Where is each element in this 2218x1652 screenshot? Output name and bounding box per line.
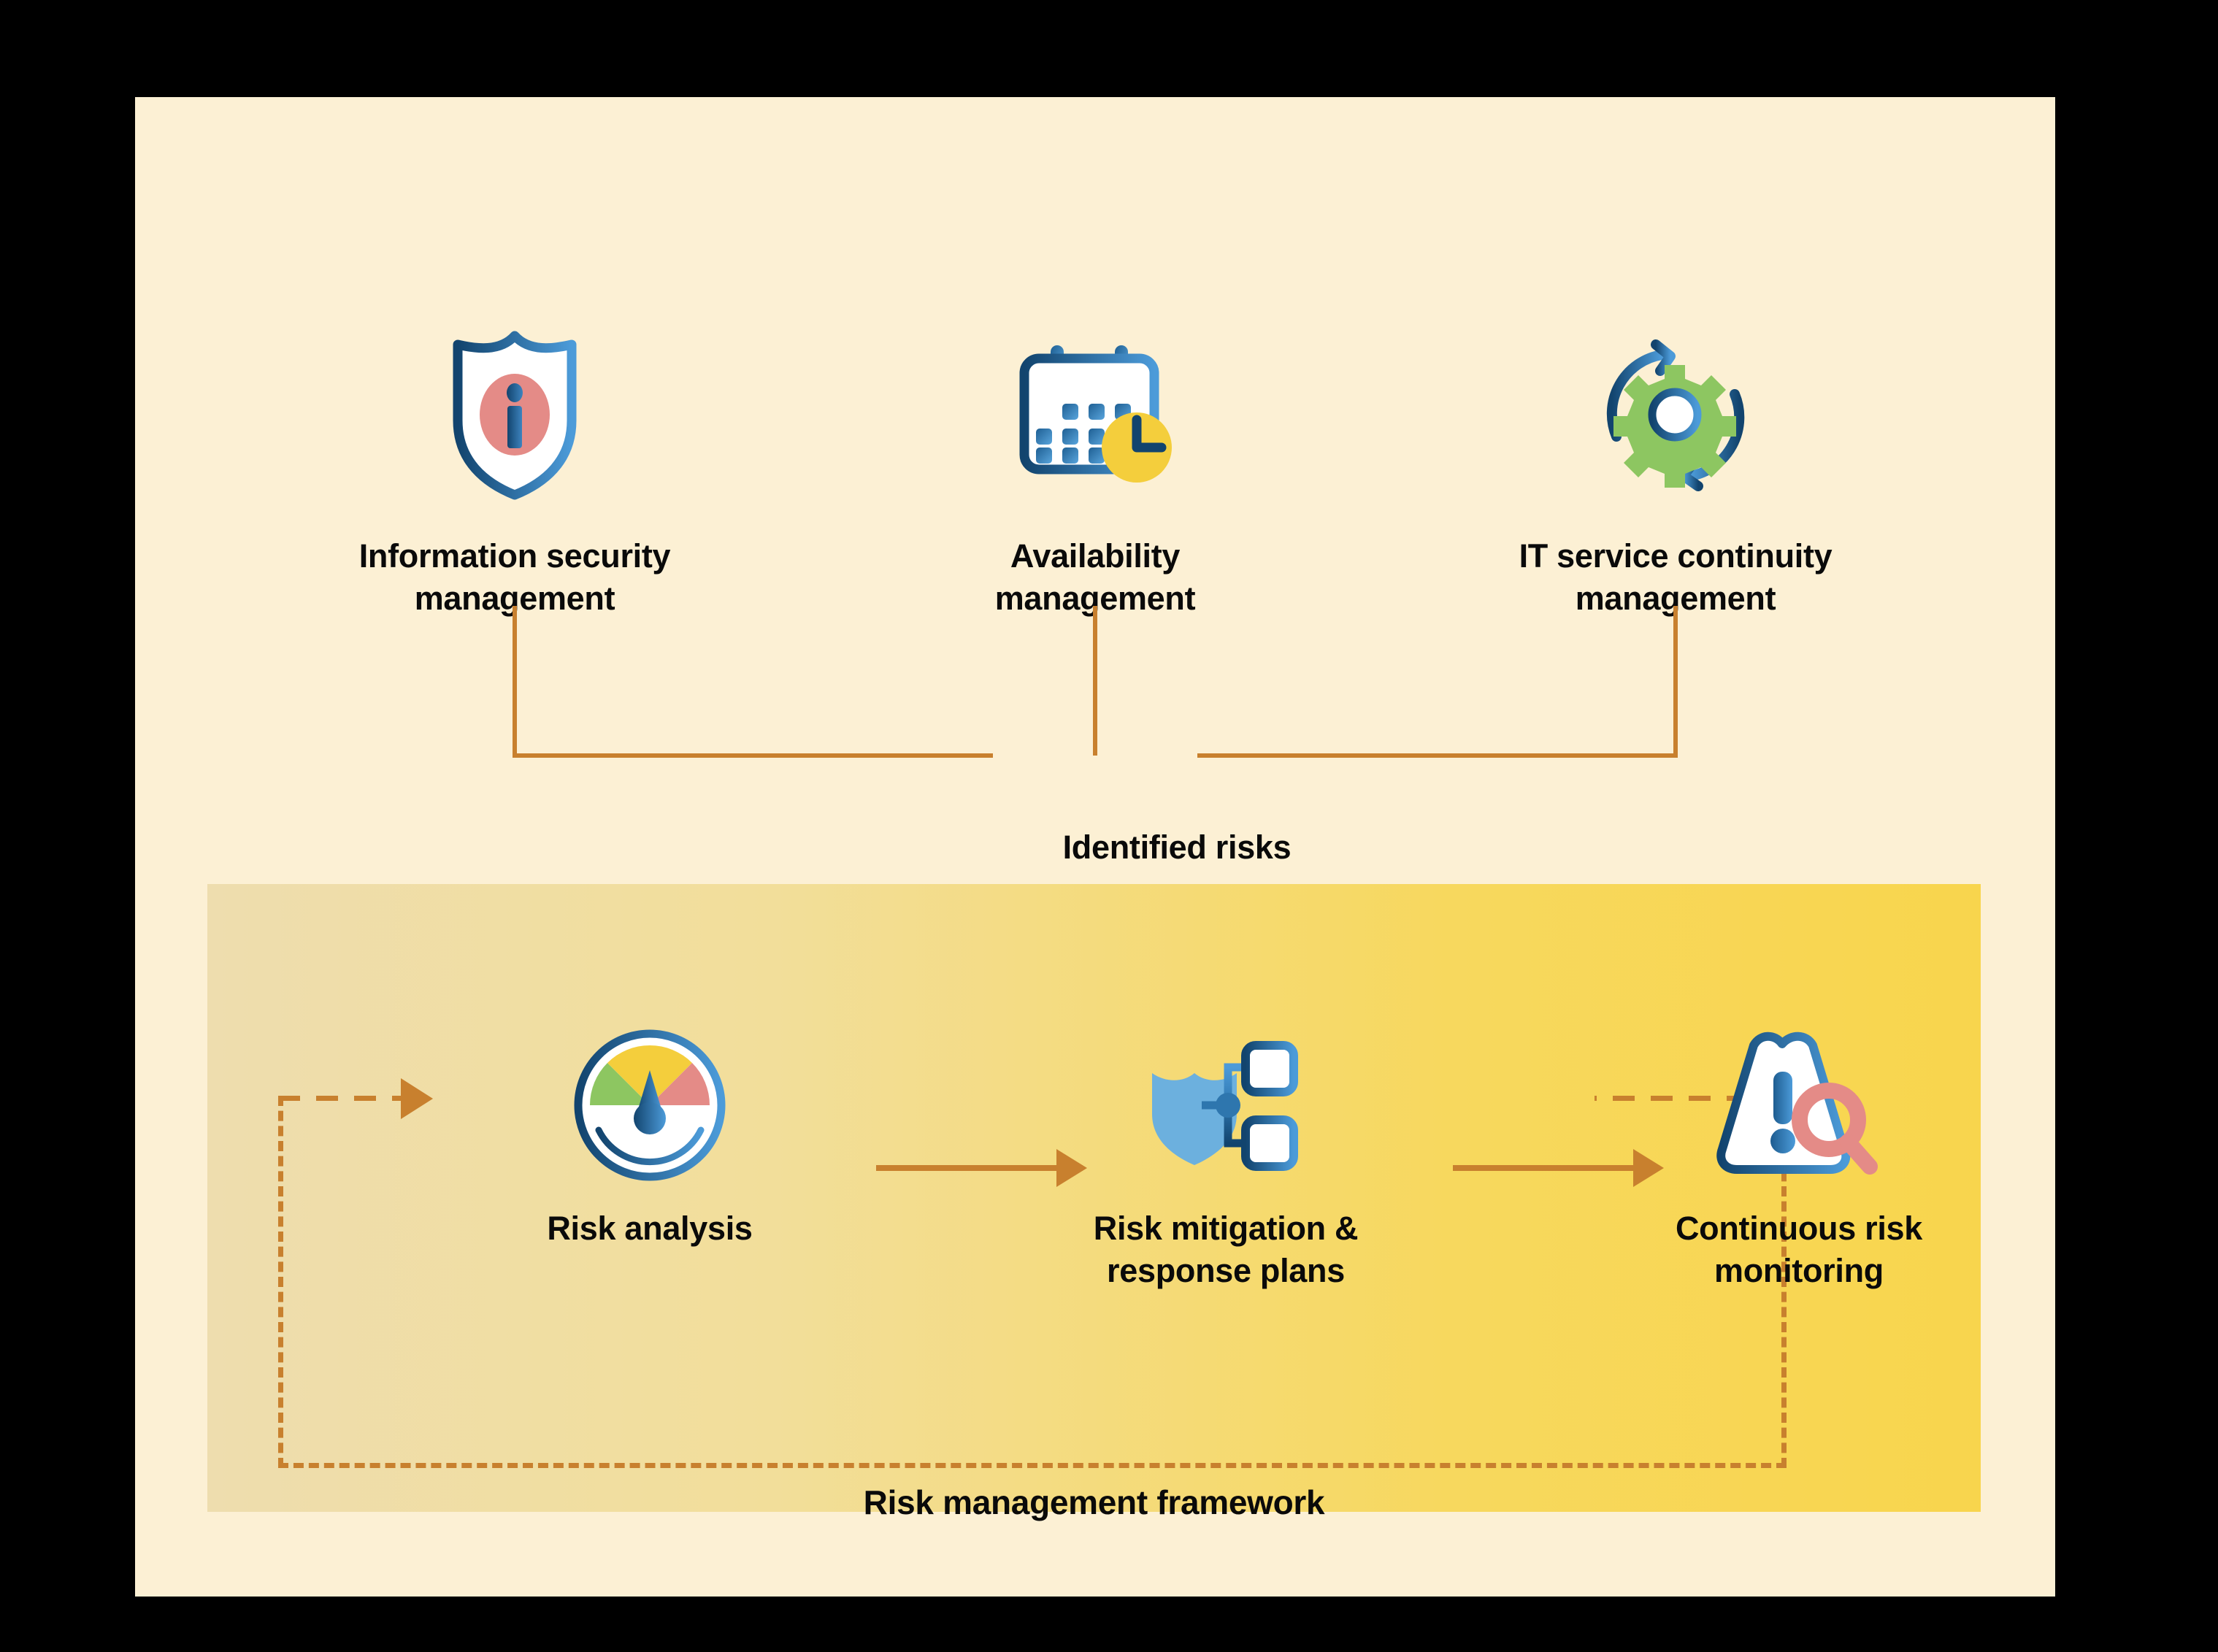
step-risk-analysis: Risk analysis: [423, 1015, 876, 1250]
step-label-line1: Risk mitigation &: [999, 1207, 1452, 1250]
identified-risks-label: Identified risks: [1002, 826, 1352, 869]
connector-horizontal-left: [513, 753, 993, 758]
step-label-line2: monitoring: [1573, 1250, 2025, 1292]
source-label-line1: Availability: [869, 535, 1321, 577]
source-availability-management: Availability management: [869, 316, 1321, 619]
step-label-line1: Risk analysis: [423, 1207, 876, 1250]
calendar-clock-icon: [869, 316, 1321, 513]
connector-vertical-right: [1673, 606, 1678, 756]
step-label-line2: response plans: [999, 1250, 1452, 1292]
shield-info-icon: [288, 316, 741, 513]
connector-vertical-left: [513, 606, 517, 756]
source-label-line1: IT service continuity: [1449, 535, 1902, 577]
source-information-security-management: Information security management: [288, 316, 741, 619]
risk-gauge-icon: [423, 1015, 876, 1194]
connector-vertical-center: [1093, 606, 1097, 756]
connector-horizontal-right: [1197, 753, 1678, 758]
source-label-line1: Information security: [288, 535, 741, 577]
step-label: Risk mitigation & response plans: [999, 1207, 1452, 1291]
feedback-loop-top-left-segment: [278, 1096, 406, 1101]
arrow-mitigation-to-monitoring: [1453, 1165, 1659, 1171]
gear-refresh-icon: [1449, 316, 1902, 513]
source-it-service-continuity-management: IT service continuity management: [1449, 316, 1902, 619]
arrow-analysis-to-mitigation: [876, 1165, 1083, 1171]
step-label: Continuous risk monitoring: [1573, 1207, 2025, 1291]
step-label-line1: Continuous risk: [1573, 1207, 2025, 1250]
step-label: Risk analysis: [423, 1207, 876, 1250]
risk-management-framework-panel: Risk analysis: [207, 884, 1981, 1512]
diagram-canvas: Information security management: [135, 97, 2055, 1597]
framework-label: Risk management framework: [207, 1483, 1981, 1522]
